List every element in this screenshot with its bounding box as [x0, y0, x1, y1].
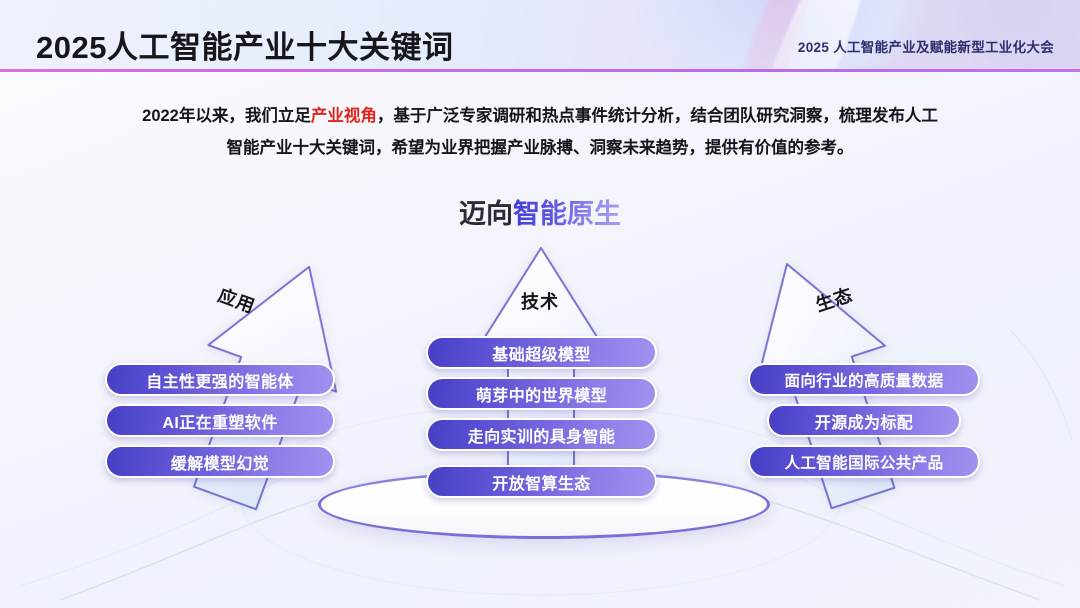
header-bar: 2025人工智能产业十大关键词 2025 人工智能产业及赋能新型工业化大会: [0, 0, 1080, 71]
pill-ecosystem-3[interactable]: 人工智能国际公共产品: [748, 445, 980, 478]
intro-line1-part2: ，基于广泛专家调研和热点事件统计分析，结合团队研究洞察，梳理发布人工: [377, 107, 938, 125]
conference-name: 2025 人工智能产业及赋能新型工业化大会: [798, 36, 1054, 56]
slide-canvas: 2025人工智能产业十大关键词 2025 人工智能产业及赋能新型工业化大会 20…: [0, 0, 1080, 608]
pill-ecosystem-1[interactable]: 面向行业的高质量数据: [748, 363, 980, 396]
pill-technology-3[interactable]: 走向实训的具身智能: [426, 418, 657, 451]
intro-highlight: 产业视角: [311, 107, 377, 125]
headline-prefix: 迈向: [459, 199, 513, 229]
pill-technology-4[interactable]: 开放智算生态: [426, 465, 657, 498]
pill-ecosystem-2[interactable]: 开源成为标配: [767, 404, 961, 437]
pill-technology-1[interactable]: 基础超级模型: [426, 336, 657, 369]
section-headline: 迈向智能原生: [0, 192, 1080, 231]
intro-line1-part1: 2022年以来，我们立足: [142, 107, 311, 125]
arrow-technology: [466, 244, 616, 494]
page-title: 2025人工智能产业十大关键词: [36, 22, 453, 67]
intro-paragraph: 2022年以来，我们立足产业视角，基于广泛专家调研和热点事件统计分析，结合团队研…: [40, 100, 1040, 164]
pill-application-3[interactable]: 缓解模型幻觉: [105, 445, 335, 478]
intro-line2: 智能产业十大关键词，希望为业界把握产业脉搏、洞察未来趋势，提供有价值的参考。: [227, 139, 854, 157]
pill-technology-2[interactable]: 萌芽中的世界模型: [426, 377, 657, 410]
pill-application-1[interactable]: 自主性更强的智能体: [105, 363, 335, 396]
headline-accent: 智能原生: [513, 199, 621, 229]
header-divider: [0, 69, 1080, 72]
pill-application-2[interactable]: AI正在重塑软件: [105, 404, 335, 437]
arrow-label-technology: 技术: [521, 288, 559, 314]
